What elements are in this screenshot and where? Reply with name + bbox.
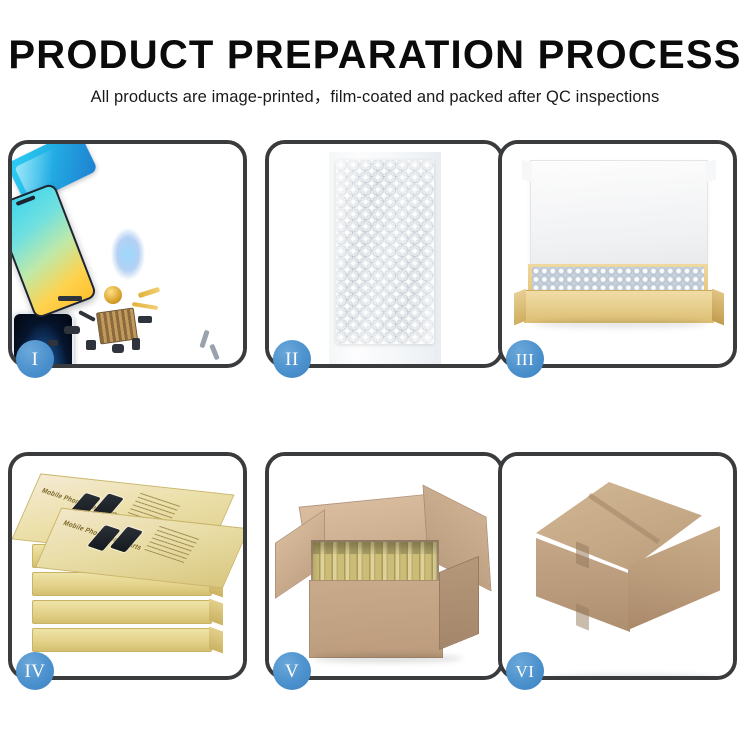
step-image-2 xyxy=(269,144,500,364)
step-numeral-4: IV xyxy=(24,662,45,681)
packing-tape-upper xyxy=(576,541,589,568)
phone-gradient-tilted xyxy=(12,182,98,320)
carton-shadow xyxy=(313,654,463,663)
small-part-5 xyxy=(132,338,140,350)
retail-box-layer xyxy=(32,628,212,652)
white-box-lid xyxy=(530,160,708,271)
step-image-3 xyxy=(502,144,733,364)
carton-side-face xyxy=(439,556,479,650)
step-panel-4: Mobile Phone Spare Parts Mobile Phone Sp… xyxy=(8,452,247,680)
carton-front-face xyxy=(309,580,443,658)
step-badge-6: VI xyxy=(506,652,544,690)
step-panel-5: V xyxy=(265,452,504,680)
small-part-8 xyxy=(48,340,58,346)
step-image-5 xyxy=(269,456,500,676)
small-part-6 xyxy=(138,316,152,323)
box-shadow xyxy=(532,320,708,328)
step-panel-3: III xyxy=(498,140,737,368)
step-numeral-3: III xyxy=(516,351,534,368)
retail-box-stack: Mobile Phone Spare Parts Mobile Phone Sp… xyxy=(26,478,232,664)
step-panel-2: II xyxy=(265,140,504,368)
step-panel-1: I xyxy=(8,140,247,368)
step-numeral-6: VI xyxy=(516,663,535,680)
step-badge-5: V xyxy=(273,652,311,690)
sealed-carton xyxy=(520,478,720,650)
small-part-2 xyxy=(64,326,80,334)
step-badge-2: II xyxy=(273,340,311,378)
bubble-wrap-sheet xyxy=(336,160,434,344)
flex-cable-2 xyxy=(132,302,158,310)
step-image-6 xyxy=(502,456,733,676)
small-part-3 xyxy=(86,340,96,350)
step-numeral-2: II xyxy=(285,350,299,369)
carton-shadow xyxy=(550,674,718,676)
step-panel-6: VI xyxy=(498,452,737,680)
page-title: PRODUCT PREPARATION PROCESS xyxy=(0,33,750,77)
small-part-4 xyxy=(112,344,124,353)
packed-boxes-shading xyxy=(313,542,437,554)
speaker-part xyxy=(104,286,122,304)
tweezers-tool xyxy=(209,344,220,361)
step-numeral-5: V xyxy=(285,662,299,681)
step-image-1 xyxy=(12,144,243,364)
page-subtitle: All products are image-printed，film-coat… xyxy=(0,86,750,108)
flex-cable-1 xyxy=(138,287,160,299)
retail-box-layer xyxy=(32,600,212,624)
small-part-7 xyxy=(78,310,96,322)
screwdriver-tool xyxy=(199,330,209,349)
box-printed-specs xyxy=(144,525,200,563)
box-tray-front-wall xyxy=(524,290,714,323)
step-badge-3: III xyxy=(506,340,544,378)
small-part-1 xyxy=(58,296,82,301)
infographic-page: PRODUCT PREPARATION PROCESS All products… xyxy=(0,0,750,750)
step-badge-4: IV xyxy=(16,652,54,690)
step-image-4: Mobile Phone Spare Parts Mobile Phone Sp… xyxy=(12,456,243,676)
step-numeral-1: I xyxy=(32,350,39,369)
packing-tape-lower xyxy=(576,603,589,630)
step-badge-1: I xyxy=(16,340,54,378)
